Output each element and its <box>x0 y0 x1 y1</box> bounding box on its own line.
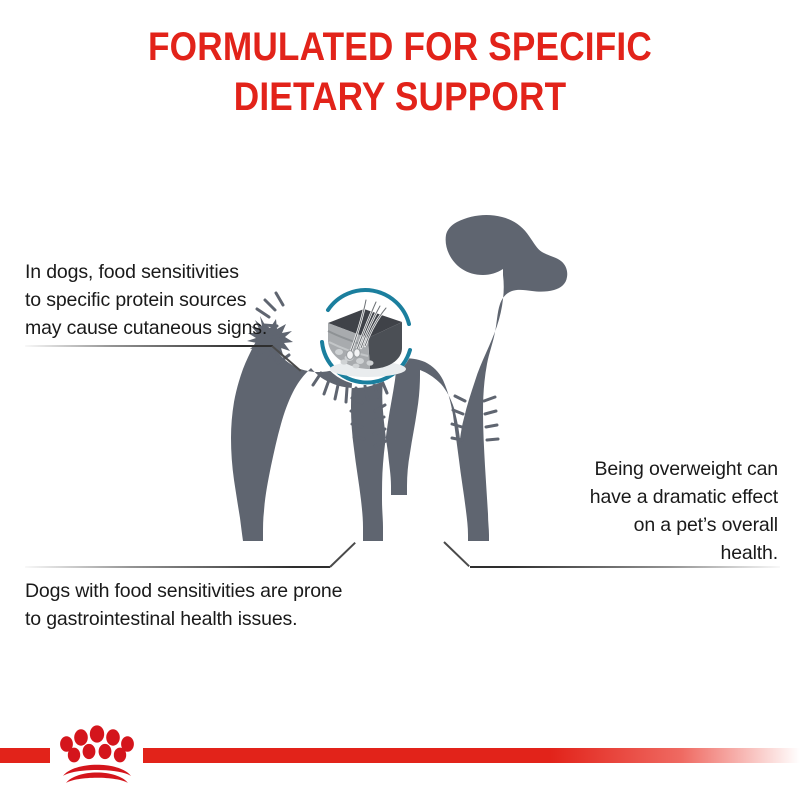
footer-bar-right <box>143 748 800 763</box>
callout-skin-line-1: In dogs, food sensitivities <box>25 258 325 286</box>
connector-line-gi-horizontal <box>25 566 330 568</box>
callout-skin-text: In dogs, food sensitivities to specific … <box>25 258 325 342</box>
callout-gi-text: Dogs with food sensitivities are prone t… <box>25 577 455 633</box>
callout-gi-line-2: to gastrointestinal health issues. <box>25 605 455 633</box>
footer <box>0 700 800 800</box>
callout-weight-line-1: Being overweight can <box>508 455 778 483</box>
footer-bar-left <box>0 748 50 763</box>
callout-weight-line-4: health. <box>508 539 778 567</box>
connector-line-weight-horizontal <box>470 566 780 568</box>
page-title: FORMULATED FOR SPECIFIC DIETARY SUPPORT <box>48 22 752 122</box>
connector-line-skin-horizontal <box>25 345 273 347</box>
callout-weight-text: Being overweight can have a dramatic eff… <box>508 455 778 567</box>
royal-canin-crown-paw-logo-icon <box>52 724 142 786</box>
callout-weight-line-2: have a dramatic effect <box>508 483 778 511</box>
callout-gi-line-1: Dogs with food sensitivities are prone <box>25 577 455 605</box>
callout-weight-line-3: on a pet’s overall <box>508 511 778 539</box>
page-title-line-2: DIETARY SUPPORT <box>48 72 752 122</box>
infographic-page: FORMULATED FOR SPECIFIC DIETARY SUPPORT <box>0 0 800 800</box>
callout-skin-line-3: may cause cutaneous signs. <box>25 314 325 342</box>
page-title-line-1: FORMULATED FOR SPECIFIC <box>48 22 752 72</box>
callout-skin-line-2: to specific protein sources <box>25 286 325 314</box>
